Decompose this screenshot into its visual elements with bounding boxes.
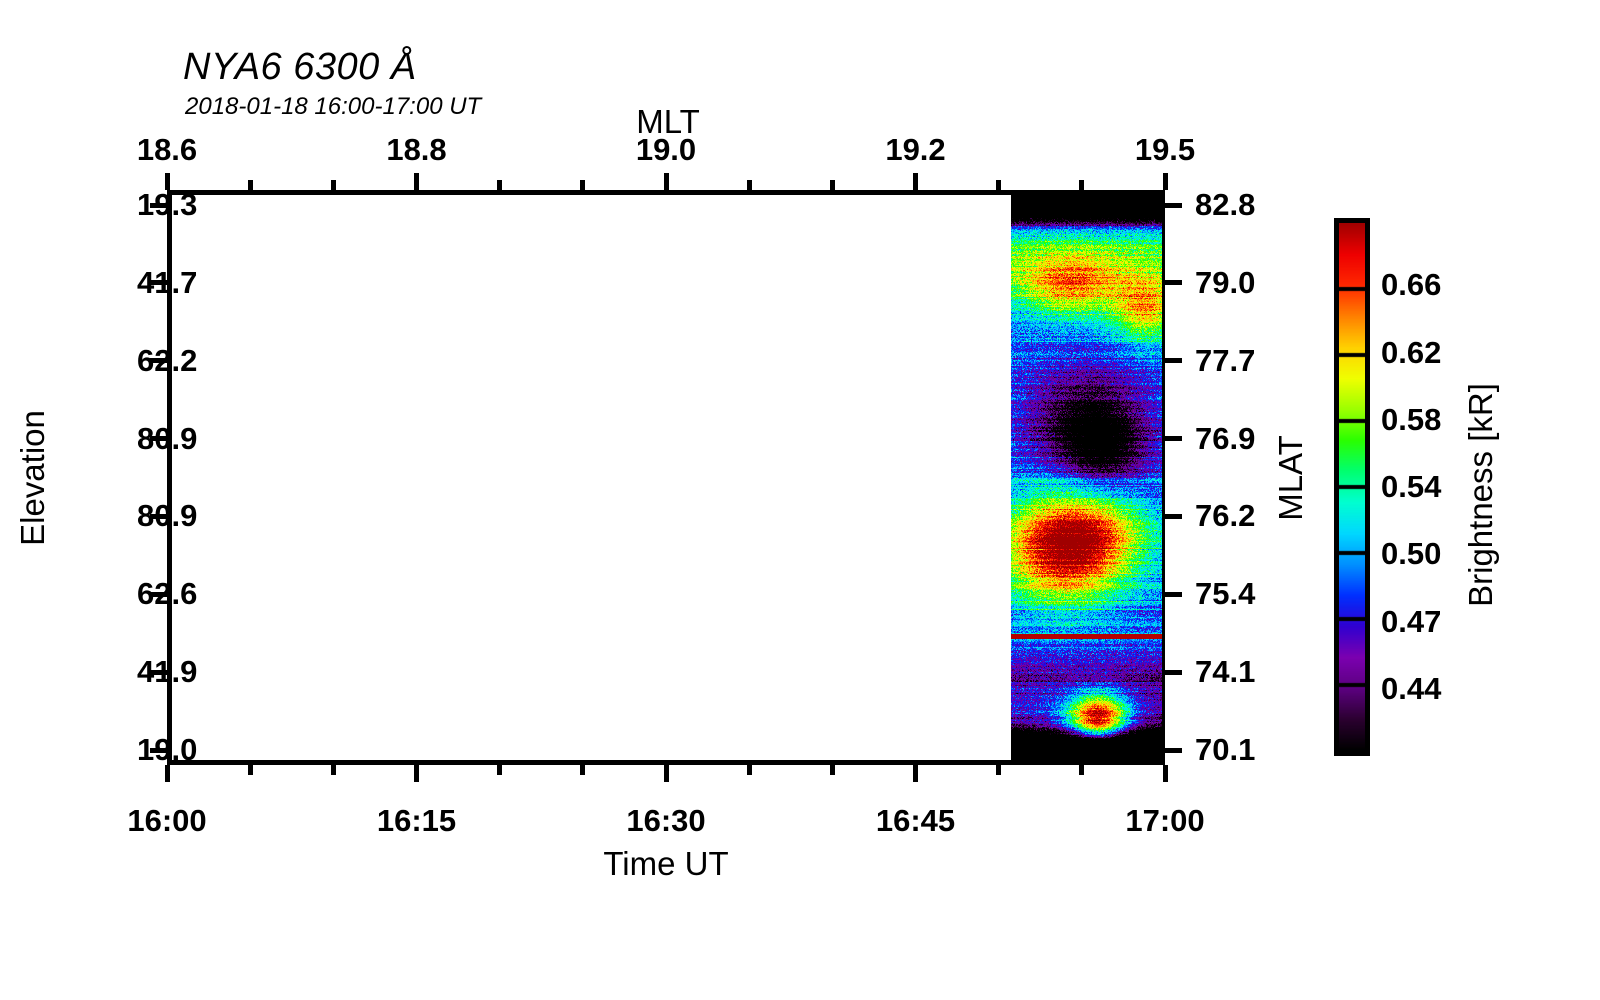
top-minor-tick-0-2 <box>331 180 336 190</box>
right-major-tick-3 <box>1165 436 1182 441</box>
right-axis-title: MLAT <box>1272 435 1310 521</box>
top-major-tick-3 <box>913 173 918 190</box>
colorbar-gradient <box>1339 223 1365 751</box>
top-major-tick-2 <box>664 173 669 190</box>
right-tick-label-2: 77.7 <box>1195 343 1255 379</box>
right-major-tick-2 <box>1165 358 1182 363</box>
top-major-tick-1 <box>414 173 419 190</box>
top-minor-tick-3-1 <box>996 180 1001 190</box>
page-title: NYA6 6300 Å <box>183 46 417 89</box>
right-major-tick-7 <box>1165 748 1182 753</box>
top-minor-tick-1-1 <box>497 180 502 190</box>
top-tick-label-4: 19.5 <box>1135 132 1195 168</box>
bottom-tick-label-3: 16:45 <box>876 803 955 839</box>
bottom-major-tick-3 <box>913 765 918 782</box>
top-tick-label-3: 19.2 <box>885 132 945 168</box>
subtitle: 2018-01-18 16:00-17:00 UT <box>185 93 481 121</box>
colorbar <box>1334 218 1370 756</box>
right-tick-label-4: 76.2 <box>1195 498 1255 534</box>
left-axis-title: Elevation <box>14 410 52 546</box>
bottom-minor-tick-2-2 <box>830 765 835 775</box>
colorbar-title: Brightness [kR] <box>1462 383 1500 607</box>
bottom-tick-label-1: 16:15 <box>377 803 456 839</box>
colorbar-tick-label-6: 0.44 <box>1381 671 1441 707</box>
right-major-tick-4 <box>1165 514 1182 519</box>
bottom-major-tick-0 <box>165 765 170 782</box>
top-tick-label-0: 18.6 <box>137 132 197 168</box>
right-major-tick-6 <box>1165 670 1182 675</box>
colorbar-tick-label-4: 0.50 <box>1381 536 1441 572</box>
bottom-axis-title: Time UT <box>603 845 728 883</box>
bottom-tick-label-2: 16:30 <box>626 803 705 839</box>
colorbar-tick-label-5: 0.47 <box>1381 604 1441 640</box>
bottom-minor-tick-3-2 <box>1079 765 1084 775</box>
bottom-minor-tick-0-1 <box>248 765 253 775</box>
right-tick-label-7: 70.1 <box>1195 732 1255 768</box>
top-minor-tick-1-2 <box>580 180 585 190</box>
right-tick-label-3: 76.9 <box>1195 421 1255 457</box>
top-tick-label-2: 19.0 <box>636 132 696 168</box>
bottom-minor-tick-1-2 <box>580 765 585 775</box>
right-major-tick-0 <box>1165 203 1182 208</box>
bottom-minor-tick-0-2 <box>331 765 336 775</box>
bottom-major-tick-2 <box>664 765 669 782</box>
right-tick-label-1: 79.0 <box>1195 265 1255 301</box>
bottom-major-tick-1 <box>414 765 419 782</box>
top-major-tick-4 <box>1163 173 1168 190</box>
bottom-minor-tick-2-1 <box>747 765 752 775</box>
colorbar-tick-label-0: 0.66 <box>1381 267 1441 303</box>
right-tick-label-5: 75.4 <box>1195 576 1255 612</box>
keogram-image <box>1011 193 1162 762</box>
colorbar-tick-label-3: 0.54 <box>1381 469 1441 505</box>
keogram-figure: NYA6 6300 Å 2018-01-18 16:00-17:00 UT ML… <box>0 0 1600 1000</box>
top-minor-tick-2-1 <box>747 180 752 190</box>
bottom-major-tick-4 <box>1163 765 1168 782</box>
top-minor-tick-2-2 <box>830 180 835 190</box>
right-major-tick-1 <box>1165 280 1182 285</box>
right-tick-label-6: 74.1 <box>1195 654 1255 690</box>
colorbar-tick-label-2: 0.58 <box>1381 402 1441 438</box>
top-tick-label-1: 18.8 <box>386 132 446 168</box>
bottom-minor-tick-1-1 <box>497 765 502 775</box>
right-major-tick-5 <box>1165 592 1182 597</box>
bottom-tick-label-0: 16:00 <box>127 803 206 839</box>
colorbar-tick-label-1: 0.62 <box>1381 335 1441 371</box>
bottom-tick-label-4: 17:00 <box>1125 803 1204 839</box>
top-minor-tick-0-1 <box>248 180 253 190</box>
top-minor-tick-3-2 <box>1079 180 1084 190</box>
right-tick-label-0: 82.8 <box>1195 187 1255 223</box>
bottom-minor-tick-3-1 <box>996 765 1001 775</box>
